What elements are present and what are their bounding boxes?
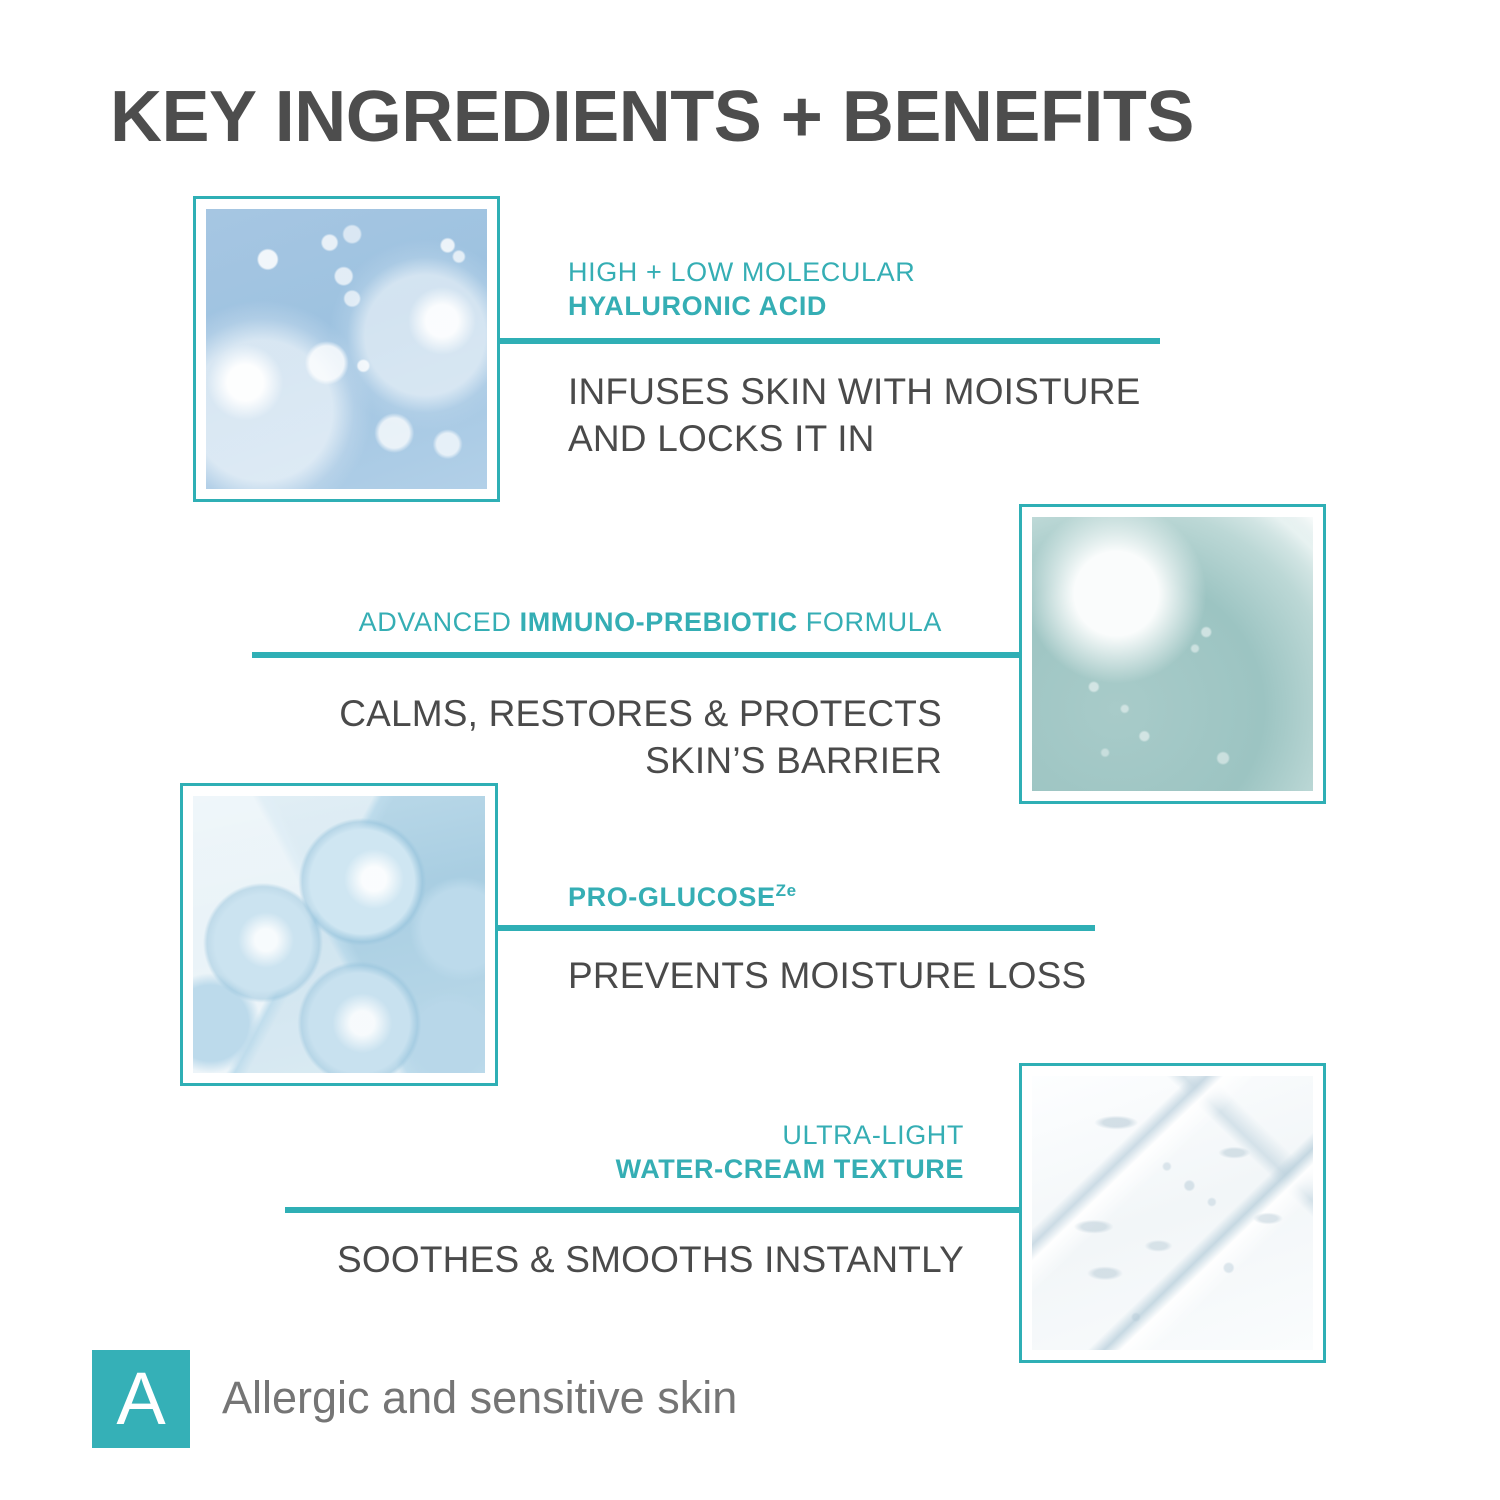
- benefit-text-1-line1: INFUSES SKIN WITH MOISTURE: [568, 368, 1141, 415]
- ingredient-label-3: PRO-GLUCOSEZe: [568, 880, 797, 914]
- clear-gel-texture-photo: [1032, 1076, 1313, 1350]
- benefit-text-3-line1: PREVENTS MOISTURE LOSS: [568, 952, 1086, 999]
- ingredient-image-immuno-prebiotic: [1019, 504, 1326, 804]
- divider-rule-1: [497, 338, 1160, 344]
- ingredient-image-water-cream-texture: [1019, 1063, 1326, 1363]
- divider-rule-4: [285, 1207, 1022, 1213]
- ingredient-image-pro-glucose: [180, 783, 498, 1086]
- allergy-badge-label: Allergic and sensitive skin: [222, 1372, 737, 1424]
- benefit-text-2-line2: SKIN’S BARRIER: [286, 737, 942, 784]
- ingredient-label-1-strong: HYALURONIC ACID: [568, 291, 827, 321]
- ingredient-label-2-strong: IMMUNO-PREBIOTIC: [520, 607, 798, 637]
- molecule-structure-photo: [193, 796, 485, 1073]
- ingredient-label-4-strong: WATER-CREAM TEXTURE: [616, 1154, 964, 1184]
- infographic-page: KEY INGREDIENTS + BENEFITS HIGH + LOW MO…: [0, 0, 1500, 1500]
- benefit-block-3: PREVENTS MOISTURE LOSS: [568, 952, 1086, 999]
- ingredient-block-2: ADVANCED IMMUNO-PREBIOTIC FORMULA: [286, 605, 942, 639]
- page-title: KEY INGREDIENTS + BENEFITS: [110, 76, 1194, 158]
- ingredient-label-1-prefix: HIGH + LOW MOLECULAR: [568, 257, 915, 287]
- ingredient-label-2-suffix: FORMULA: [798, 607, 942, 637]
- allergy-badge-icon: A: [92, 1350, 190, 1448]
- ingredient-label-4: ULTRA-LIGHT WATER-CREAM TEXTURE: [320, 1118, 964, 1186]
- ingredient-block-3: PRO-GLUCOSEZe: [568, 880, 797, 914]
- benefit-block-1: INFUSES SKIN WITH MOISTURE AND LOCKS IT …: [568, 368, 1141, 463]
- teal-gel-droplet-photo: [1032, 517, 1313, 791]
- benefit-text-4-line1: SOOTHES & SMOOTHS INSTANTLY: [320, 1236, 964, 1283]
- benefit-text-1-line2: AND LOCKS IT IN: [568, 415, 1141, 462]
- ingredient-block-1: HIGH + LOW MOLECULAR HYALURONIC ACID: [568, 255, 915, 323]
- ingredient-label-2-prefix: ADVANCED: [359, 607, 520, 637]
- water-bubbles-photo: [206, 209, 487, 489]
- ingredient-label-1: HIGH + LOW MOLECULAR HYALURONIC ACID: [568, 255, 915, 323]
- ingredient-label-3-strong: PRO-GLUCOSE: [568, 882, 776, 912]
- ingredient-label-3-superscript: Ze: [776, 881, 797, 900]
- divider-rule-3: [495, 925, 1095, 931]
- ingredient-block-4: ULTRA-LIGHT WATER-CREAM TEXTURE: [320, 1118, 964, 1186]
- benefit-block-4: SOOTHES & SMOOTHS INSTANTLY: [320, 1236, 964, 1283]
- ingredient-image-hyaluronic-acid: [193, 196, 500, 502]
- ingredient-label-4-prefix: ULTRA-LIGHT: [782, 1120, 964, 1150]
- benefit-text-2-line1: CALMS, RESTORES & PROTECTS: [286, 690, 942, 737]
- ingredient-label-2: ADVANCED IMMUNO-PREBIOTIC FORMULA: [286, 605, 942, 639]
- benefit-block-2: CALMS, RESTORES & PROTECTS SKIN’S BARRIE…: [286, 690, 942, 785]
- divider-rule-2: [252, 652, 1022, 658]
